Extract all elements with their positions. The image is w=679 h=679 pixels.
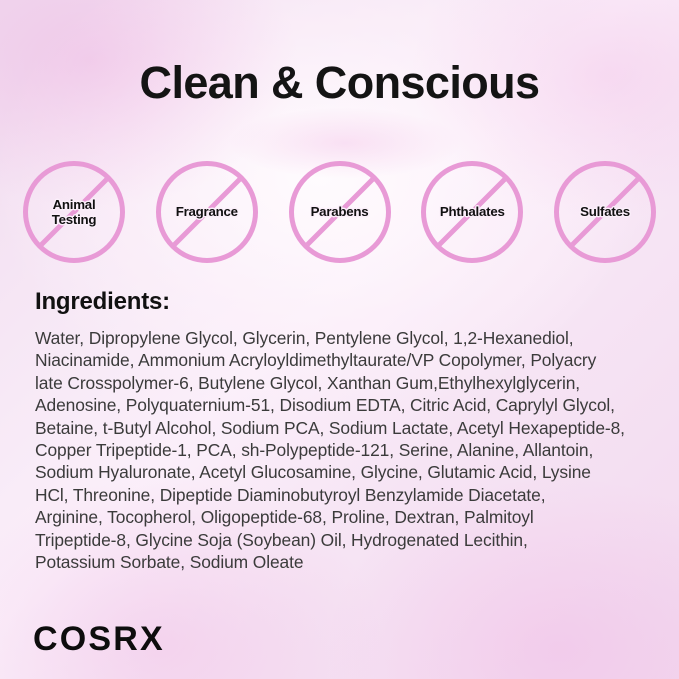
badge-label: Fragrance bbox=[176, 204, 238, 219]
free-from-badge-row: Animal Testing Fragrance Parabens Phthal… bbox=[22, 160, 657, 264]
ingredients-line: Sodium Hyaluronate, Acetyl Glucosamine, … bbox=[35, 461, 650, 483]
ingredients-line: Copper Tripeptide-1, PCA, sh-Polypeptide… bbox=[35, 439, 650, 461]
ingredients-line: Adenosine, Polyquaternium-51, Disodium E… bbox=[35, 394, 650, 416]
ingredients-line: late Crosspolymer-6, Butylene Glycol, Xa… bbox=[35, 372, 650, 394]
brand-logo: COSRX bbox=[33, 620, 165, 658]
badge-fragrance: Fragrance bbox=[155, 160, 259, 264]
badge-label: Sulfates bbox=[580, 204, 630, 219]
ingredients-line: Water, Dipropylene Glycol, Glycerin, Pen… bbox=[35, 327, 650, 349]
badge-phthalates: Phthalates bbox=[420, 160, 524, 264]
badge-sulfates: Sulfates bbox=[553, 160, 657, 264]
ingredients-line: HCl, Threonine, Dipeptide Diaminobutyroy… bbox=[35, 484, 650, 506]
page-title: Clean & Conscious bbox=[0, 57, 679, 109]
badge-label: Animal Testing bbox=[52, 197, 97, 227]
ingredients-line: Potassium Sorbate, Sodium Oleate bbox=[35, 551, 650, 573]
ingredients-line: Betaine, t-Butyl Alcohol, Sodium PCA, So… bbox=[35, 417, 650, 439]
ingredients-list: Water, Dipropylene Glycol, Glycerin, Pen… bbox=[35, 327, 650, 573]
badge-parabens: Parabens bbox=[288, 160, 392, 264]
badge-label: Phthalates bbox=[440, 204, 505, 219]
ingredients-line: Arginine, Tocopherol, Oligopeptide-68, P… bbox=[35, 506, 650, 528]
ingredients-line: Niacinamide, Ammonium Acryloyldimethylta… bbox=[35, 349, 650, 371]
product-detail-card: Clean & Conscious Animal Testing Fragran… bbox=[0, 0, 679, 679]
badge-animal-testing: Animal Testing bbox=[22, 160, 126, 264]
badge-label: Parabens bbox=[311, 204, 369, 219]
ingredients-heading: Ingredients: bbox=[35, 288, 170, 316]
ingredients-line: Tripeptide-8, Glycine Soja (Soybean) Oil… bbox=[35, 529, 650, 551]
